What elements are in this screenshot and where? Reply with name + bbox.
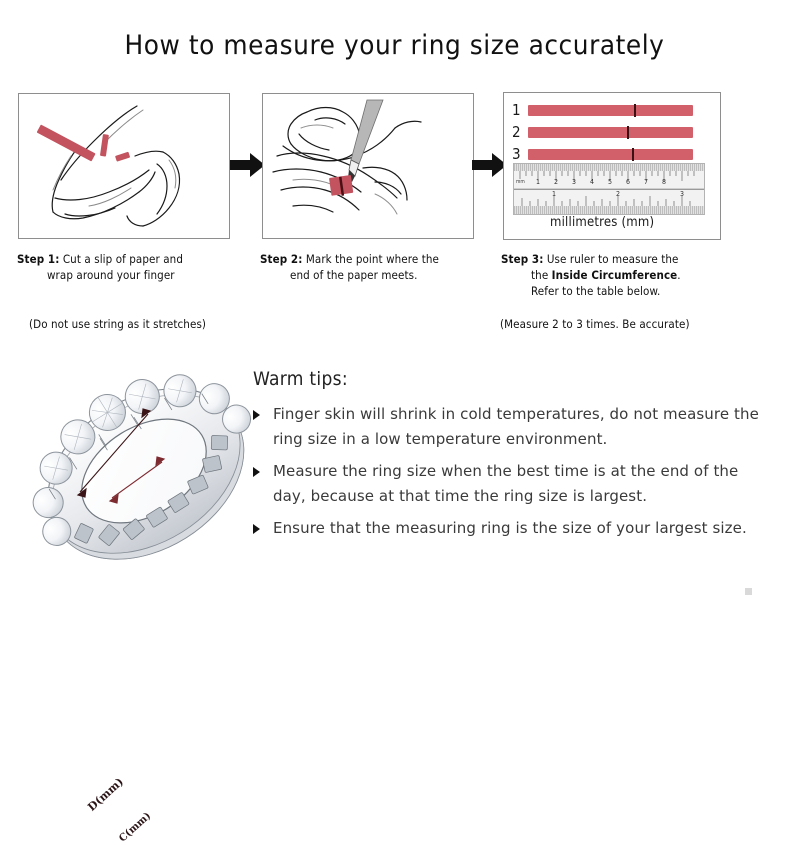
step-3-emphasis: Inside Circumference xyxy=(552,268,678,282)
strip-number-3: 3 xyxy=(512,145,528,163)
ruler-cm-tick-6: 6 xyxy=(626,178,630,186)
hand-with-paper-strip-illustration xyxy=(19,94,227,236)
ruler-inch-tick-2: 2 xyxy=(616,190,620,198)
strip-number-1: 1 xyxy=(512,101,528,119)
strip-number-2: 2 xyxy=(512,123,528,141)
step-1-illustration-panel xyxy=(18,93,230,239)
step-1-line-1: Cut a slip of paper and xyxy=(63,252,183,266)
step-2-line-1: Mark the point where the xyxy=(306,252,439,266)
ruler-unit-caption: millimetres (mm) xyxy=(550,215,654,230)
paper-strip-2 xyxy=(528,127,693,138)
step-3-illustration-panel: 1 2 3 xyxy=(503,92,721,240)
ring-size-guide-page: How to measure your ring size accurately xyxy=(0,0,789,606)
strip-mark-2 xyxy=(627,126,629,139)
triangle-bullet-icon xyxy=(253,524,260,534)
warm-tips-heading: Warm tips: xyxy=(253,368,348,390)
step-3-line-2-tail: . xyxy=(677,268,680,282)
warm-tip-text: Measure the ring size when the best time… xyxy=(273,462,738,505)
step-2-line-2: end of the paper meets. xyxy=(260,267,495,283)
ruler-origin-label: mm xyxy=(516,179,525,185)
paper-strip-1 xyxy=(528,105,693,116)
ruler-cm-tick-8: 8 xyxy=(662,178,666,186)
warm-tip-text: Ensure that the measuring ring is the si… xyxy=(273,519,747,537)
paper-strip xyxy=(37,124,131,161)
step-1-label: Step 1: xyxy=(17,252,59,266)
triangle-bullet-icon xyxy=(253,410,260,420)
ring-circumference-label: C(mm) xyxy=(117,811,153,845)
step-3-note: (Measure 2 to 3 times. Be accurate) xyxy=(500,317,690,331)
ruler-cm-tick-7: 7 xyxy=(644,178,648,186)
paper-strip-3 xyxy=(528,149,693,160)
corner-artifact xyxy=(745,588,752,595)
triangle-bullet-icon xyxy=(253,467,260,477)
warm-tips-list: Finger skin will shrink in cold temperat… xyxy=(253,402,773,548)
hand-marking-paper-with-pen-illustration xyxy=(263,94,471,236)
ruler-top-edge xyxy=(514,164,704,171)
step-3-line-2: the Inside Circumference. xyxy=(501,267,751,283)
page-title: How to measure your ring size accurately xyxy=(32,30,758,61)
ruler-cm-tick-1: 1 xyxy=(536,178,540,186)
pen xyxy=(348,100,383,182)
step-2-caption: Step 2: Mark the point where the end of … xyxy=(260,251,495,283)
step-3-label: Step 3: xyxy=(501,252,543,266)
step-3-caption: Step 3: Use ruler to measure the the Ins… xyxy=(501,251,751,299)
step-2-label: Step 2: xyxy=(260,252,302,266)
arrow-right-icon-1 xyxy=(230,152,266,178)
measured-strip-row-3: 3 xyxy=(512,145,702,163)
measured-strip-row-2: 2 xyxy=(512,123,702,141)
step-2-illustration-panel xyxy=(262,93,474,239)
warm-tip-text: Finger skin will shrink in cold temperat… xyxy=(273,405,759,448)
ruler-inch-tick-3: 3 xyxy=(680,190,684,198)
step-3-line-1: Use ruler to measure the xyxy=(547,252,679,266)
warm-tip-item: Ensure that the measuring ring is the si… xyxy=(253,516,773,541)
step-3-line-2-prefix: the xyxy=(531,268,552,282)
ruler-cm-tick-4: 4 xyxy=(590,178,594,186)
step-1-note: (Do not use string as it stretches) xyxy=(29,317,206,331)
eternity-ring-diagram: D(mm) C(mm) xyxy=(28,352,260,590)
ruler-inch-scale: 1 2 3 xyxy=(514,189,704,206)
step-1-line-2: wrap around your finger xyxy=(17,267,252,283)
strip-mark-3 xyxy=(632,148,634,161)
ring-diameter-label: D(mm) xyxy=(85,775,126,814)
warm-tip-item: Finger skin will shrink in cold temperat… xyxy=(253,402,773,452)
paper-strip-marked xyxy=(329,175,353,196)
ruler-inch-tick-1: 1 xyxy=(552,190,556,198)
step-3-line-3: Refer to the table below. xyxy=(501,283,751,299)
step-1-caption: Step 1: Cut a slip of paper and wrap aro… xyxy=(17,251,252,283)
warm-tip-item: Measure the ring size when the best time… xyxy=(253,459,773,509)
ruler: mm 1 2 3 4 5 6 7 8 xyxy=(513,163,705,215)
ruler-cm-tick-3: 3 xyxy=(572,178,576,186)
ruler-bottom-edge xyxy=(514,206,704,214)
strip-mark-1 xyxy=(634,104,636,117)
measured-strip-row-1: 1 xyxy=(512,101,702,119)
ruler-cm-scale: mm 1 2 3 4 5 6 7 8 xyxy=(514,171,704,188)
ruler-cm-tick-5: 5 xyxy=(608,178,612,186)
ruler-cm-tick-2: 2 xyxy=(554,178,558,186)
